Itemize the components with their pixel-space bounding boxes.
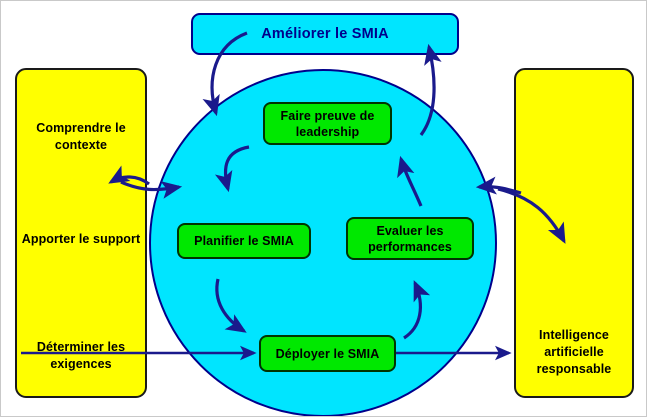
node-deployer-le-smia: Déployer le SMIA	[259, 335, 396, 372]
left-panel-item-context: Comprendre le contexte	[17, 120, 145, 154]
left-context-panel: Comprendre le contexte Apporter le suppo…	[15, 68, 147, 398]
node-evaluer-les-performances: Evaluer les performances	[346, 217, 474, 260]
node-plan-label: Planifier le SMIA	[190, 233, 298, 249]
diagram-canvas: Comprendre le contexte Apporter le suppo…	[0, 0, 647, 417]
left-panel-item-support: Apporter le support	[17, 231, 145, 248]
node-evaluate-label: Evaluer les performances	[348, 223, 472, 255]
right-panel-item-responsible-ai: Intelligence artificielle responsable	[516, 327, 632, 378]
left-panel-item-requirements: Déterminer les exigences	[17, 339, 145, 373]
node-deploy-label: Déployer le SMIA	[272, 346, 384, 362]
right-outcome-panel: Intelligence artificielle responsable	[514, 68, 634, 398]
banner-improve-label: Améliorer le SMIA	[261, 26, 389, 42]
banner-improve-smia: Améliorer le SMIA	[191, 13, 459, 55]
node-planifier-le-smia: Planifier le SMIA	[177, 223, 311, 259]
node-leadership-label: Faire preuve de leadership	[265, 108, 390, 140]
node-faire-preuve-de-leadership: Faire preuve de leadership	[263, 102, 392, 145]
